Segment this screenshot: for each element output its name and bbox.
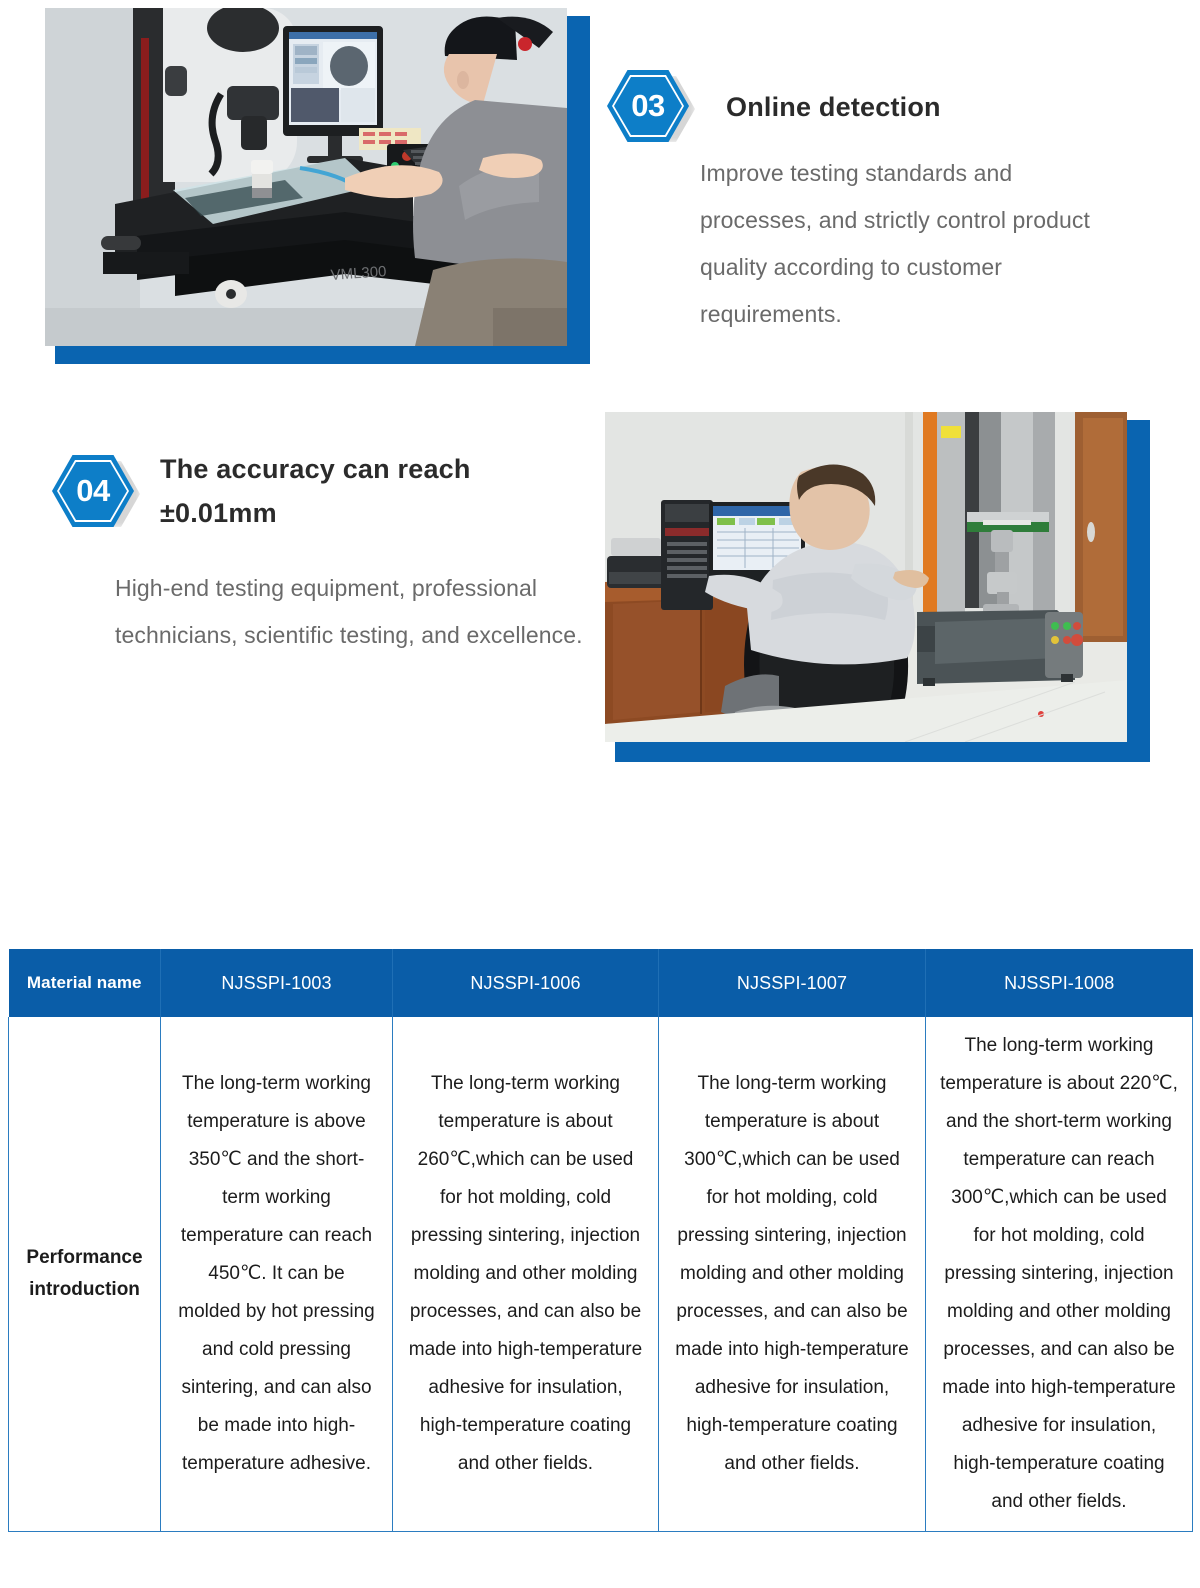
step-number-04: 04 [76,475,109,507]
online-detection-photo-frame: VML300 [45,8,585,363]
table-header-njsspi-1007: NJSSPI-1007 [659,949,926,1017]
table-header-njsspi-1003: NJSSPI-1003 [161,949,393,1017]
photo2-illustration [605,412,1127,742]
table-row: Performance introduction The long-term w… [9,1017,1193,1532]
page-root: VML300 [0,0,1200,1588]
vision-measuring-machine-photo: VML300 [45,8,567,346]
cell-njsspi-1003-performance: The long-term working temperature is abo… [161,1017,393,1532]
table-header-row: Material name NJSSPI-1003 NJSSPI-1006 NJ… [9,949,1193,1017]
feature-body-accuracy: High-end testing equipment, professional… [115,565,595,659]
feature-title-online-detection: Online detection [726,85,1156,129]
section-banner: PI MATERIAL INTRODUCTION [0,818,1200,918]
row-label-performance-introduction: Performance introduction [9,1017,161,1532]
cell-njsspi-1007-performance: The long-term working temperature is abo… [659,1017,926,1532]
table-header-material-name: Material name [9,949,161,1017]
feature-body-online-detection: Improve testing standards and processes,… [700,150,1130,338]
tensile-testing-machine-photo [605,412,1127,742]
photo1-illustration: VML300 [45,8,567,346]
accuracy-photo-frame [605,412,1150,762]
cell-njsspi-1006-performance: The long-term working temperature is abo… [393,1017,659,1532]
pi-material-table: Material name NJSSPI-1003 NJSSPI-1006 NJ… [8,949,1193,1532]
table-header-njsspi-1008: NJSSPI-1008 [926,949,1193,1017]
step-badge-03: 03 [607,70,689,142]
step-number-03: 03 [631,90,664,122]
step-badge-04: 04 [52,455,134,527]
cell-njsspi-1008-performance: The long-term working temperature is abo… [926,1017,1193,1532]
feature-title-accuracy: The accuracy can reach ±0.01mm [160,447,560,535]
table-header-njsspi-1006: NJSSPI-1006 [393,949,659,1017]
